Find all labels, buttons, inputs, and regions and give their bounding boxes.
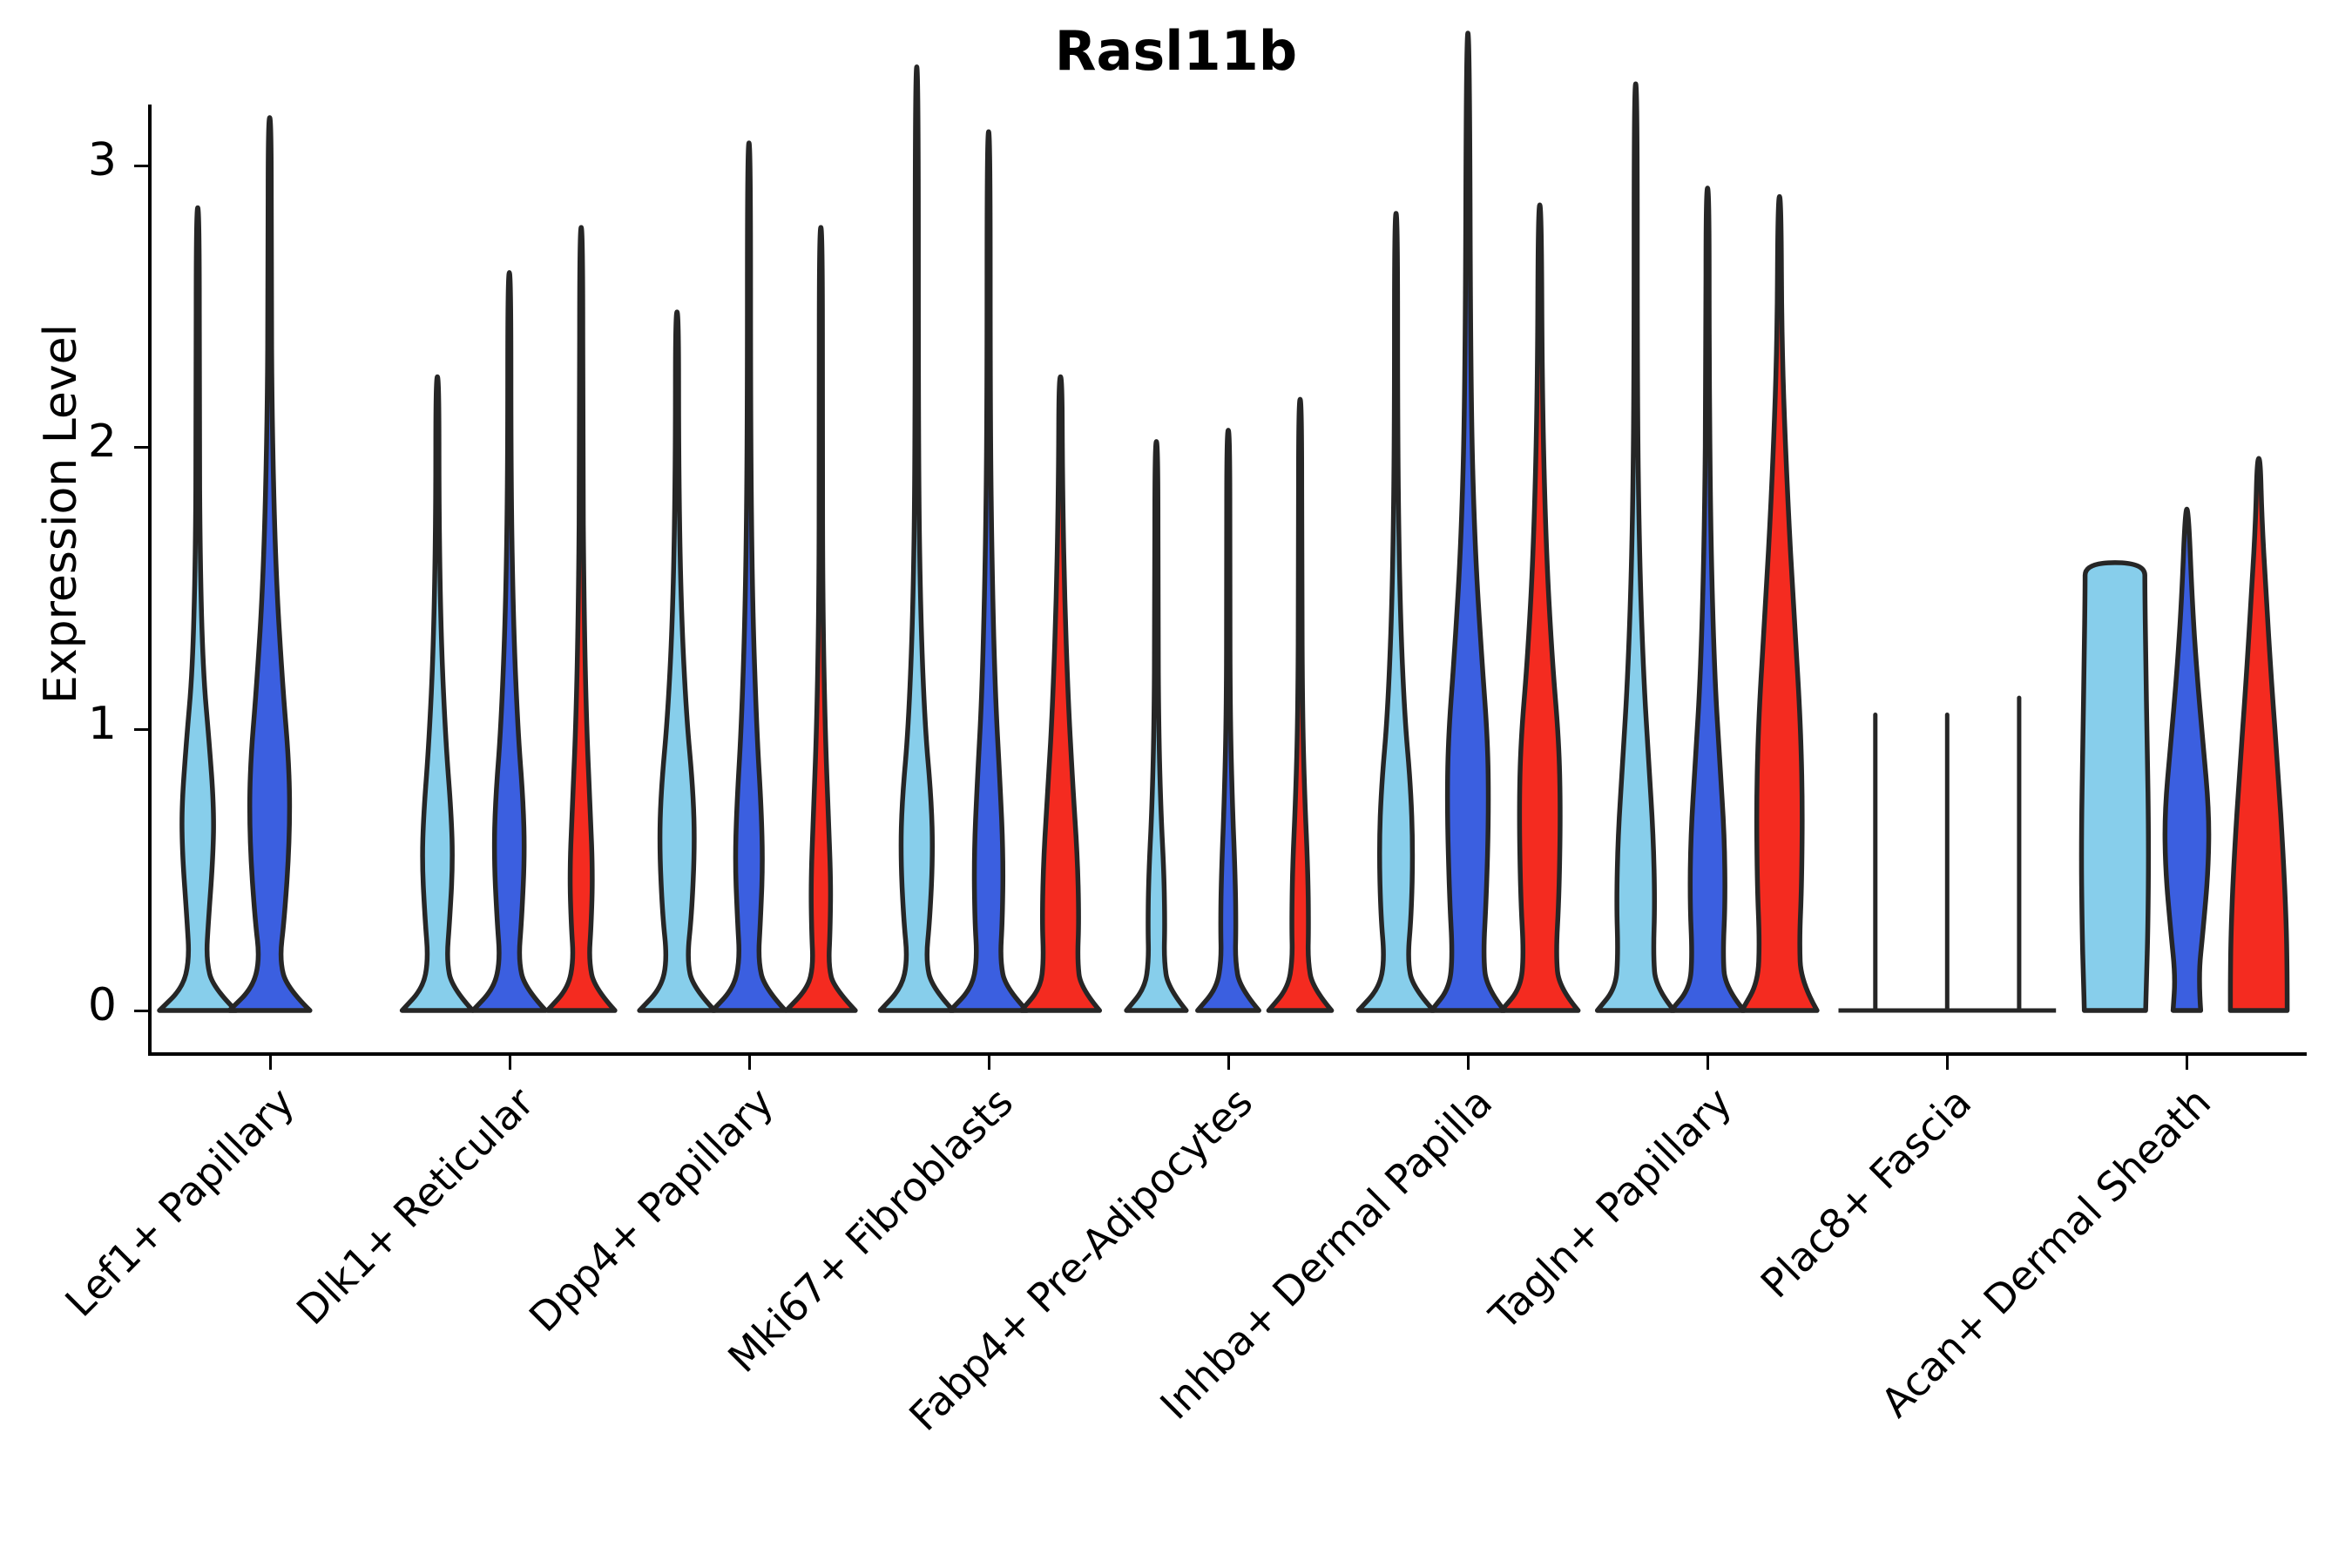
violin-body bbox=[159, 208, 236, 1011]
violin-body bbox=[2230, 458, 2287, 1010]
violin-fabp4-pre-adipocytes-group-1 bbox=[1126, 442, 1186, 1010]
violin-lef1-papillary-group-2 bbox=[229, 118, 310, 1010]
x-tick-mark bbox=[269, 1056, 272, 1070]
y-tick-mark bbox=[134, 728, 148, 731]
x-tick-mark bbox=[1707, 1056, 1709, 1070]
violin-body bbox=[1198, 430, 1259, 1010]
violin-body bbox=[402, 377, 473, 1011]
y-tick-label: 2 bbox=[38, 416, 117, 468]
violin-body bbox=[473, 273, 546, 1010]
violin-body bbox=[1598, 84, 1674, 1010]
x-tick-label-8: Acan+ Dermal Sheath bbox=[1817, 1078, 2220, 1481]
x-tick-mark bbox=[748, 1056, 751, 1070]
x-tick-mark bbox=[1227, 1056, 1230, 1070]
x-tick-label-7: Plac8+ Fascia bbox=[1578, 1078, 1980, 1481]
violin-body bbox=[1126, 442, 1186, 1010]
violin-plot-figure: Rasl11b Expression Level 3210 Lef1+ Papi… bbox=[0, 0, 2352, 1568]
violin-acan-dermal-sheath-group-1 bbox=[2081, 563, 2148, 1010]
violin-plac8-fascia-group-2 bbox=[1910, 715, 1984, 1011]
violin-body bbox=[229, 118, 310, 1010]
x-tick-label-1: Dlk1+ Reticular bbox=[139, 1078, 542, 1481]
x-tick-label-2: Dpp4+ Papillary bbox=[380, 1078, 782, 1481]
x-tick-label-5: Inhba+ Dermal Papilla bbox=[1098, 1078, 1501, 1481]
x-tick-mark bbox=[1467, 1056, 1470, 1070]
violin-plac8-fascia-group-3 bbox=[1983, 698, 2057, 1010]
y-axis-label: Expression Level bbox=[35, 270, 87, 758]
y-tick-label: 3 bbox=[38, 134, 117, 186]
violin-tagln-papillary-group-1 bbox=[1598, 84, 1674, 1010]
violin-fabp4-pre-adipocytes-group-2 bbox=[1198, 430, 1259, 1010]
violin-body bbox=[1022, 377, 1100, 1011]
violin-dpp4-papillary-group-2 bbox=[713, 143, 786, 1010]
violin-body bbox=[548, 227, 615, 1010]
violin-body bbox=[2165, 510, 2208, 1011]
violin-dlk1-reticular-group-2 bbox=[473, 273, 546, 1010]
y-tick-mark bbox=[134, 446, 148, 449]
violin-mki67-fibroblasts-group-3 bbox=[1022, 377, 1100, 1011]
x-tick-mark bbox=[2186, 1056, 2188, 1070]
x-tick-label-6: Tagln+ Papillary bbox=[1338, 1078, 1740, 1481]
y-tick-mark bbox=[134, 1010, 148, 1012]
violin-mki67-fibroblasts-group-1 bbox=[881, 67, 954, 1010]
violin-dlk1-reticular-group-3 bbox=[548, 227, 615, 1010]
violin-inhba-dermal-papilla-group-3 bbox=[1502, 205, 1578, 1010]
violin-body bbox=[881, 67, 954, 1010]
violin-tagln-papillary-group-2 bbox=[1671, 188, 1744, 1010]
violin-plac8-fascia-group-1 bbox=[1839, 715, 1913, 1011]
violin-shapes-layer bbox=[0, 0, 2352, 1568]
violin-body bbox=[1358, 213, 1433, 1010]
violin-body bbox=[950, 132, 1027, 1010]
violin-inhba-dermal-papilla-group-1 bbox=[1358, 213, 1433, 1010]
violin-body bbox=[1502, 205, 1578, 1010]
violin-acan-dermal-sheath-group-3 bbox=[2230, 458, 2287, 1010]
x-tick-label-0: Lef1+ Papillary bbox=[0, 1078, 303, 1481]
violin-fabp4-pre-adipocytes-group-3 bbox=[1268, 399, 1331, 1010]
x-tick-mark bbox=[1946, 1056, 1949, 1070]
x-tick-label-4: Fabp4+ Pre-Adipocytes bbox=[859, 1078, 1261, 1481]
violin-body bbox=[639, 312, 714, 1010]
page-title: Rasl11b bbox=[0, 19, 2352, 83]
violin-body bbox=[713, 143, 786, 1010]
violin-lef1-papillary-group-1 bbox=[159, 208, 236, 1011]
violin-body bbox=[2081, 563, 2148, 1010]
violin-acan-dermal-sheath-group-2 bbox=[2165, 510, 2208, 1011]
y-tick-label: 1 bbox=[38, 698, 117, 750]
y-tick-mark bbox=[134, 165, 148, 167]
violin-tagln-papillary-group-3 bbox=[1742, 197, 1817, 1010]
violin-inhba-dermal-papilla-group-2 bbox=[1431, 33, 1504, 1010]
violin-body bbox=[1431, 33, 1504, 1010]
violin-body bbox=[1268, 399, 1331, 1010]
violin-body bbox=[787, 227, 855, 1010]
violin-dpp4-papillary-group-1 bbox=[639, 312, 714, 1010]
violin-body bbox=[1742, 197, 1817, 1010]
violin-mki67-fibroblasts-group-2 bbox=[950, 132, 1027, 1010]
x-tick-label-3: Mki67+ Fibroblasts bbox=[619, 1078, 1022, 1481]
violin-dpp4-papillary-group-3 bbox=[787, 227, 855, 1010]
violin-dlk1-reticular-group-1 bbox=[402, 377, 473, 1011]
x-tick-mark bbox=[509, 1056, 511, 1070]
y-tick-label: 0 bbox=[38, 979, 117, 1031]
y-axis-line bbox=[148, 105, 152, 1052]
violin-body bbox=[1671, 188, 1744, 1010]
x-tick-mark bbox=[988, 1056, 990, 1070]
